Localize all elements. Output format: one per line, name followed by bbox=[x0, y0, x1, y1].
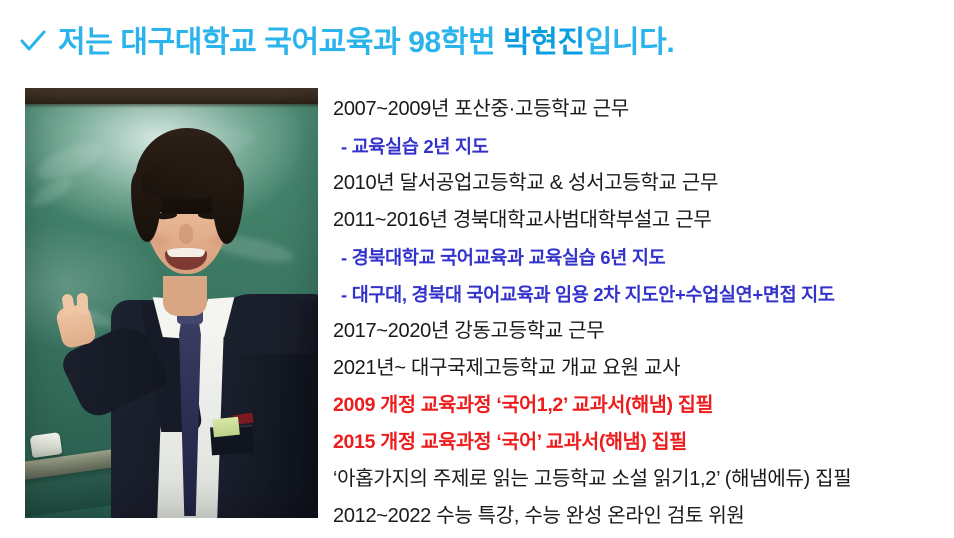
career-line: - 대구대, 경북대 국어교육과 임용 2차 지도안+수업실연+면접 지도 bbox=[333, 276, 945, 313]
title-segment-tail: 입니다. bbox=[585, 26, 675, 59]
person-figure bbox=[25, 88, 318, 518]
suit-jacket-right bbox=[215, 300, 318, 518]
title-segment-light: 저는 대구대학교 국어교육과 98학번 bbox=[58, 26, 503, 59]
career-line: 2015 개정 교육과정 ‘국어’ 교과서(해냄) 집필 bbox=[333, 424, 945, 461]
career-list: 2007~2009년 포산중·고등학교 근무 - 교육실습 2년 지도 2010… bbox=[333, 91, 945, 535]
portrait-photo bbox=[25, 88, 318, 518]
career-line: - 교육실습 2년 지도 bbox=[333, 128, 945, 165]
career-line: 2007~2009년 포산중·고등학교 근무 bbox=[333, 91, 945, 128]
finger bbox=[77, 293, 89, 315]
career-line: 2017~2020년 강동고등학교 근무 bbox=[333, 313, 945, 350]
pocket-item-card bbox=[212, 417, 240, 438]
title-segment-name: 박현진 bbox=[503, 26, 585, 59]
nose bbox=[179, 224, 193, 244]
career-line: ‘아홉가지의 주제로 읽는 고등학교 소설 읽기1,2’ (해냄에듀) 집필 bbox=[333, 461, 945, 498]
career-line: 2010년 달서공업고등학교 & 성서고등학교 근무 bbox=[333, 165, 945, 202]
neck bbox=[163, 276, 207, 316]
career-line: 2009 개정 교육과정 ‘국어1,2’ 교과서(해냄) 집필 bbox=[333, 387, 945, 424]
page-title-text: 저는 대구대학교 국어교육과 98학번 박현진입니다. bbox=[58, 26, 674, 60]
career-line: - 경북대학교 국어교육과 교육실습 6년 지도 bbox=[333, 239, 945, 276]
career-line: 2011~2016년 경북대학교사범대학부설고 근무 bbox=[333, 202, 945, 239]
page-title: 저는 대구대학교 국어교육과 98학번 박현진입니다. bbox=[18, 22, 674, 60]
teeth bbox=[167, 248, 205, 257]
check-icon bbox=[18, 26, 48, 56]
slide-canvas: 저는 대구대학교 국어교육과 98학번 박현진입니다. bbox=[0, 0, 954, 538]
career-line: 2021년~ 대구국제고등학교 개교 요원 교사 bbox=[333, 350, 945, 387]
career-line: 2012~2022 수능 특강, 수능 완성 온라인 검토 위원 bbox=[333, 498, 945, 535]
